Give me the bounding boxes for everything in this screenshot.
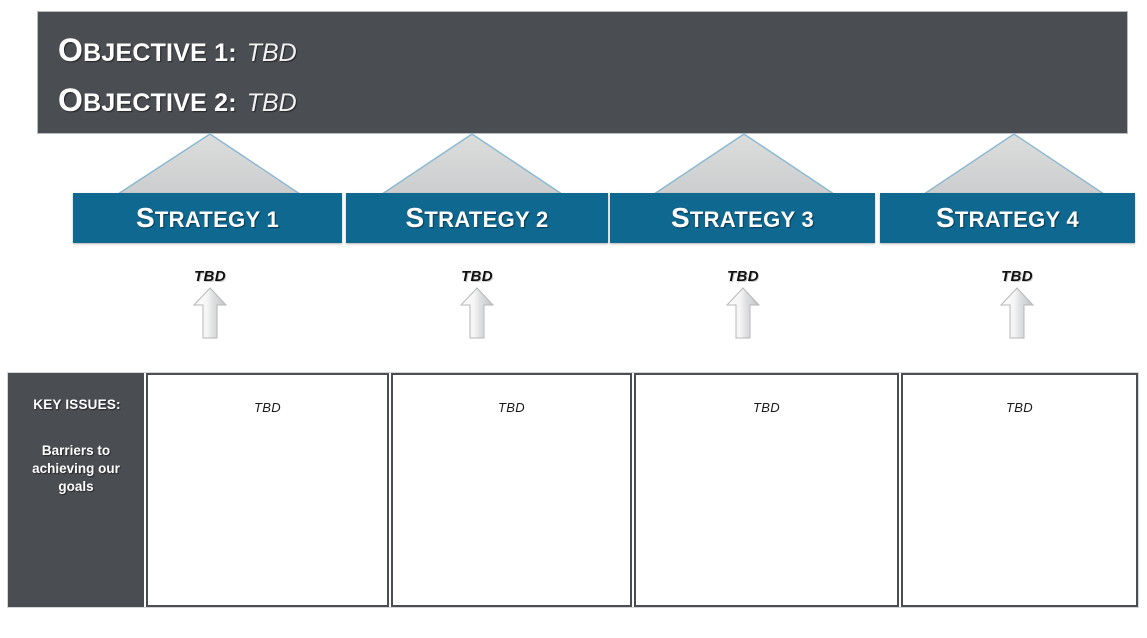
objective-1-label-rest: BJECTIVE 1: (83, 39, 237, 67)
strategy-2-label: STRATEGY 2 (405, 202, 548, 234)
objective-2-initial: O (58, 82, 83, 118)
objective-2-value: TBD (247, 89, 297, 117)
strategy-2-initial: S (405, 202, 424, 233)
strategy-1-label: STRATEGY 1 (136, 202, 279, 234)
arrow-4-tbd-label: TBD (972, 268, 1062, 285)
up-arrow-icon-2 (455, 287, 499, 339)
key-issues-table: KEY ISSUES: Barriers to achieving our go… (8, 373, 1138, 607)
funnel-triangle-4 (924, 134, 1104, 194)
funnel-triangle-1 (118, 134, 300, 194)
strategy-box-4[interactable]: STRATEGY 4 (880, 193, 1135, 243)
arrow-2-tbd-label: TBD (432, 268, 522, 285)
strategy-1-initial: S (136, 202, 155, 233)
key-issues-header-panel: KEY ISSUES: Barriers to achieving our go… (8, 373, 144, 607)
strategy-1-label-rest: TRATEGY 1 (155, 207, 279, 232)
key-issue-cell-3-text: TBD (753, 400, 780, 415)
objectives-bar: OBJECTIVE 1:TBD OBJECTIVE 2:TBD (38, 12, 1127, 133)
arrow-group-1: TBD (165, 268, 255, 339)
strategy-2-label-rest: TRATEGY 2 (424, 207, 548, 232)
strategy-box-2[interactable]: STRATEGY 2 (346, 193, 608, 243)
objective-1-initial: O (58, 32, 83, 68)
strategy-3-initial: S (671, 202, 690, 233)
strategy-map-canvas: OBJECTIVE 1:TBD OBJECTIVE 2:TBD STRATEGY… (0, 0, 1147, 638)
key-issues-title: KEY ISSUES: (8, 397, 144, 412)
up-arrow-icon-3 (721, 287, 765, 339)
objective-row-1: OBJECTIVE 1:TBD (58, 34, 1127, 66)
arrow-group-3: TBD (698, 268, 788, 339)
strategy-4-initial: S (936, 202, 955, 233)
up-arrow-icon-1 (188, 287, 232, 339)
key-issue-cell-3[interactable]: TBD (634, 373, 899, 607)
objective-2-label-rest: BJECTIVE 2: (83, 89, 237, 117)
objective-1-value: TBD (247, 39, 297, 67)
objective-2-label: OBJECTIVE 2: (58, 89, 237, 117)
arrow-1-tbd-label: TBD (165, 268, 255, 285)
key-issue-cell-1-text: TBD (254, 400, 281, 415)
strategy-box-3[interactable]: STRATEGY 3 (610, 193, 875, 243)
key-issue-cell-2[interactable]: TBD (391, 373, 632, 607)
arrow-group-4: TBD (972, 268, 1062, 339)
strategy-4-label-rest: TRATEGY 4 (955, 207, 1079, 232)
key-issue-cell-2-text: TBD (498, 400, 525, 415)
strategy-4-label: STRATEGY 4 (936, 202, 1079, 234)
funnel-triangle-2 (382, 134, 562, 194)
strategy-3-label-rest: TRATEGY 3 (690, 207, 814, 232)
funnel-triangle-3 (654, 134, 834, 194)
up-arrow-icon-4 (995, 287, 1039, 339)
key-issue-cell-4-text: TBD (1006, 400, 1033, 415)
key-issue-cell-1[interactable]: TBD (146, 373, 389, 607)
objective-row-2: OBJECTIVE 2:TBD (58, 84, 1127, 116)
arrow-3-tbd-label: TBD (698, 268, 788, 285)
strategy-box-1[interactable]: STRATEGY 1 (73, 193, 342, 243)
key-issues-subtitle: Barriers to achieving our goals (8, 442, 144, 497)
strategy-3-label: STRATEGY 3 (671, 202, 814, 234)
key-issue-cell-4[interactable]: TBD (901, 373, 1138, 607)
arrow-group-2: TBD (432, 268, 522, 339)
objective-1-label: OBJECTIVE 1: (58, 39, 237, 67)
